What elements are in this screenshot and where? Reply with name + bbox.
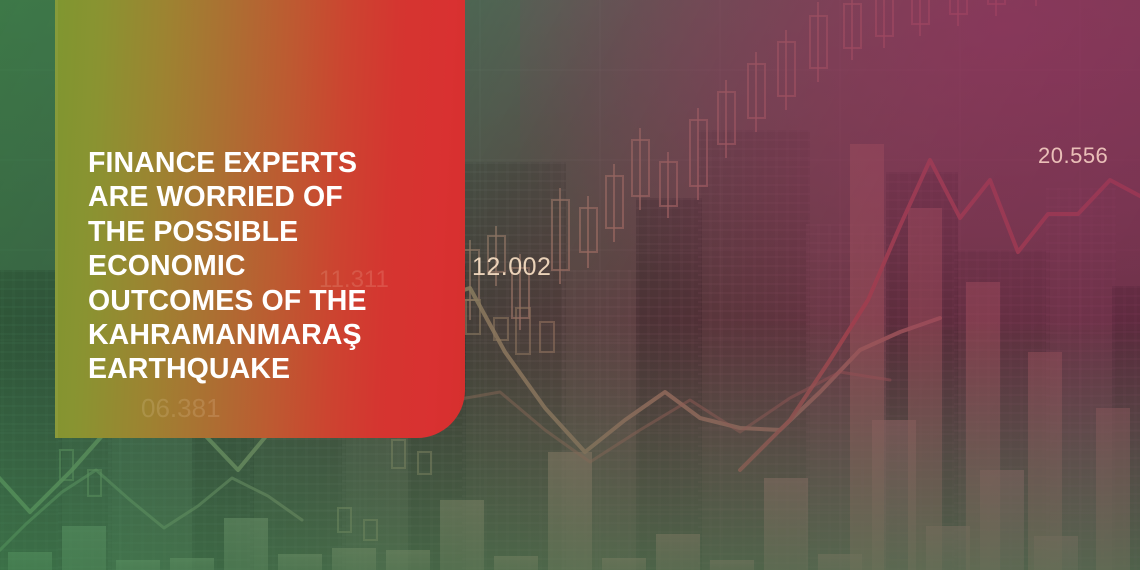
headline-line-4: Economic — [88, 249, 436, 283]
card-left-seam — [55, 0, 58, 438]
headline-line-7: Earthquake — [88, 352, 436, 386]
headline-line-1: Finance Experts — [88, 146, 436, 180]
top-right-magenta-tint — [520, 0, 1140, 330]
headline-card: 11.311 06.381 Finance Experts Are Worrie… — [55, 0, 465, 438]
card-bleed-label-06381: 06.381 — [141, 393, 221, 424]
headline-line-3: The Possible — [88, 215, 436, 249]
article-hero-banner: 12.002 20.556 11.311 06.381 11.311 06.38… — [0, 0, 1140, 570]
headline-line-2: Are Worried Of — [88, 180, 436, 214]
page-title: Finance Experts Are Worried Of The Possi… — [88, 146, 436, 387]
headline-line-5: Outcomes Of The — [88, 284, 436, 318]
headline-line-6: Kahramanmaraş — [88, 318, 436, 352]
